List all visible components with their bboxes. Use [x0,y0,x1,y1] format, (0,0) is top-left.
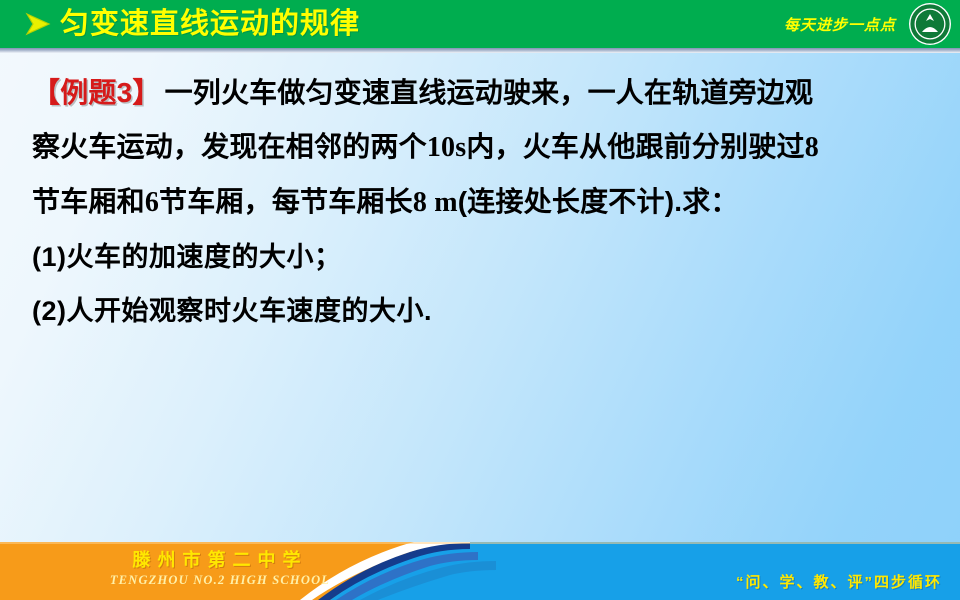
problem-line-2: 察火车运动，发现在相邻的两个10s内，火车从他跟前分别驶过8 [0,120,960,175]
footer-bar: 滕州市第二中学 TENGZHOU NO.2 HIGH SCHOOL “问、学、教… [0,542,960,600]
problem-line-3-num-b: 8 m [413,187,458,218]
header-right-group: 每天进步一点点 [784,0,952,48]
problem-line-3-num-a: 6 [145,187,159,218]
header-accent-strip [0,48,960,53]
problem-line-2-text-a: 察火车运动，发现在相邻的两个 [32,131,427,162]
problem-question-1: (1)火车的加速度的大小； [0,230,960,284]
school-emblem-icon [908,2,952,46]
footer-motto: “问、学、教、评”四步循环 [736,571,942,592]
problem-line-3-text-a: 节车厢和 [32,186,145,217]
page-title: 匀变速直线运动的规律 [60,10,360,39]
problem-line-3-text-c: (连接处长度不计).求： [458,186,739,217]
slide-canvas: 匀变速直线运动的规律 每天进步一点点 【例题3】一列火车做匀变速直线运动驶来，一… [0,0,960,600]
problem-line-2-num-a: 10s [427,132,467,163]
header-slogan: 每天进步一点点 [784,14,896,35]
problem-line-2-num-b: 8 [805,132,819,163]
arrow-triangle-icon [24,11,52,37]
problem-line-1-text: 一列火车做匀变速直线运动驶来，一人在轨道旁边观 [165,77,814,108]
problem-body: 【例题3】一列火车做匀变速直线运动驶来，一人在轨道旁边观 察火车运动，发现在相邻… [0,66,960,338]
problem-line-3: 节车厢和6节车厢，每节车厢长8 m(连接处长度不计).求： [0,175,960,230]
problem-question-2: (2)人开始观察时火车速度的大小. [0,284,960,338]
problem-line-2-text-b: 内，火车从他跟前分别驶过 [466,131,804,162]
example-tag: 【例题3】 [32,77,161,108]
problem-line-3-text-b: 节车厢，每节车厢长 [159,186,413,217]
problem-line-1: 【例题3】一列火车做匀变速直线运动驶来，一人在轨道旁边观 [0,66,960,120]
